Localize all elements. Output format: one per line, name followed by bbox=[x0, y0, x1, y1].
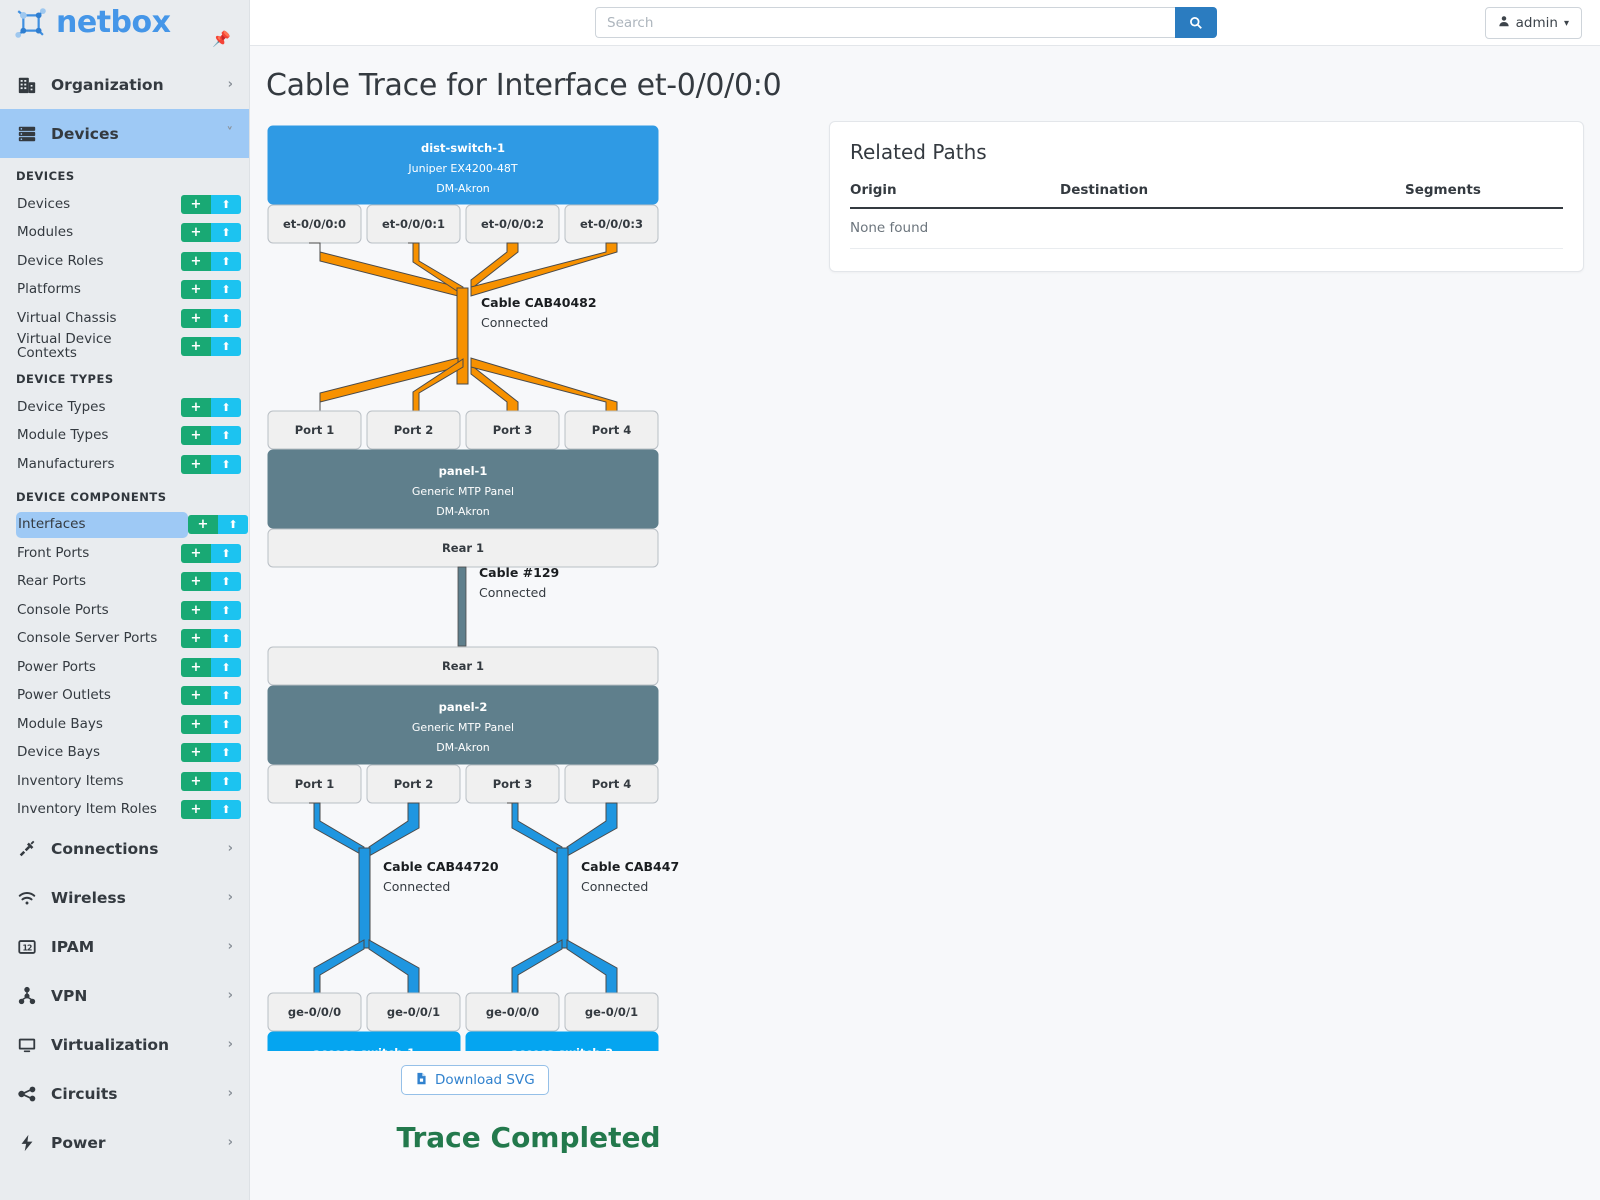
sidebar-group-label: Connections bbox=[51, 840, 215, 858]
sidebar-item-label: Inventory Item Roles bbox=[16, 798, 181, 822]
sidebar-item-device-roles[interactable]: Device Roles + ⬆ bbox=[0, 247, 249, 276]
sidebar-group-label: Power bbox=[51, 1134, 215, 1152]
add-manufacturers-button[interactable]: + bbox=[181, 455, 211, 474]
sidebar-item-actions: + ⬆ bbox=[181, 426, 241, 445]
trace-node-access-switch-1[interactable]: access-switch-1 Juniper EX4200-48T DM-Ak… bbox=[268, 1032, 460, 1051]
trace-node-panel-2[interactable]: panel-2 Generic MTP Panel DM-Akron bbox=[268, 686, 658, 764]
import-inventory-items-button[interactable]: ⬆ bbox=[211, 772, 241, 791]
rear-port-label: Rear 1 bbox=[442, 659, 484, 673]
sidebar-group-wireless[interactable]: Wireless › bbox=[0, 873, 249, 922]
sidebar-item-module-types[interactable]: Module Types + ⬆ bbox=[0, 422, 249, 451]
port-label: Port 3 bbox=[493, 423, 533, 437]
brand-name: netbox bbox=[56, 8, 170, 38]
content-area: .bx { stroke:#b9bfc5; stroke-width:1; } … bbox=[250, 103, 1600, 1154]
related-paths-table: Origin Destination Segments None found bbox=[850, 182, 1563, 249]
import-platforms-button[interactable]: ⬆ bbox=[211, 280, 241, 299]
user-icon bbox=[1498, 15, 1510, 31]
termination-label: et-0/0/0:2 bbox=[481, 217, 544, 231]
import-inventory-item-roles-button[interactable]: ⬆ bbox=[211, 800, 241, 819]
termination-label: ge-0/0/0 bbox=[486, 1005, 539, 1019]
sidebar-group-connections[interactable]: Connections › bbox=[0, 824, 249, 873]
sidebar-item-actions: + ⬆ bbox=[181, 772, 241, 791]
sidebar-item-label: Device Types bbox=[16, 396, 181, 420]
netbox-logo-icon bbox=[14, 6, 48, 40]
add-power-ports-button[interactable]: + bbox=[181, 658, 211, 677]
import-rear-ports-button[interactable]: ⬆ bbox=[211, 572, 241, 591]
sidebar-item-devices[interactable]: Devices + ⬆ bbox=[0, 190, 249, 219]
sidebar-group-label: VPN bbox=[51, 987, 215, 1005]
sidebar-item-virtual-device-contexts[interactable]: Virtual Device Contexts + ⬆ bbox=[0, 333, 249, 362]
sidebar-item-label: Manufacturers bbox=[16, 453, 181, 477]
user-menu-label: admin bbox=[1516, 15, 1558, 31]
panel-name: panel-2 bbox=[439, 700, 488, 714]
sidebar-item-actions: + ⬆ bbox=[181, 223, 241, 242]
sidebar-item-label: Devices bbox=[16, 193, 181, 217]
trace-rear-port-panel-2: Rear 1 bbox=[268, 647, 658, 685]
port-label: Port 1 bbox=[295, 423, 335, 437]
sidebar-item-power-outlets[interactable]: Power Outlets + ⬆ bbox=[0, 682, 249, 711]
search-button[interactable] bbox=[1175, 7, 1217, 38]
cable-status: Connected bbox=[581, 879, 648, 894]
sidebar: netbox 📌 Organization › bbox=[0, 0, 250, 1200]
chevron-right-icon: › bbox=[228, 939, 233, 954]
topbar: admin ▾ bbox=[250, 0, 1600, 46]
sidebar-item-actions: + ⬆ bbox=[181, 715, 241, 734]
panel-site: DM-Akron bbox=[436, 741, 490, 754]
pin-icon[interactable]: 📌 bbox=[212, 30, 231, 48]
sidebar-item-module-bays[interactable]: Module Bays + ⬆ bbox=[0, 710, 249, 739]
sidebar-item-actions: + ⬆ bbox=[181, 572, 241, 591]
sidebar-item-actions: + ⬆ bbox=[181, 800, 241, 819]
app-root: netbox 📌 Organization › bbox=[0, 0, 1600, 1200]
termination-label: ge-0/0/0 bbox=[288, 1005, 341, 1019]
page-title: Cable Trace for Interface et-0/0/0:0 bbox=[250, 46, 1600, 103]
add-vdc-button[interactable]: + bbox=[181, 337, 211, 356]
trace-node-dist-switch-1[interactable]: dist-switch-1 Juniper EX4200-48T DM-Akro… bbox=[268, 126, 658, 204]
trace-front-ports-panel-1: Port 1 Port 2 Port 3 Port 4 bbox=[268, 411, 658, 449]
trace-status-text: Trace Completed bbox=[266, 1121, 791, 1154]
file-download-icon bbox=[415, 1072, 428, 1089]
add-module-types-button[interactable]: + bbox=[181, 426, 211, 445]
rear-port-label: Rear 1 bbox=[442, 541, 484, 555]
ip-icon: 1 2 bbox=[16, 936, 38, 958]
server-icon bbox=[16, 123, 38, 145]
sidebar-item-actions: + ⬆ bbox=[181, 686, 241, 705]
add-inventory-item-roles-button[interactable]: + bbox=[181, 800, 211, 819]
add-console-server-ports-button[interactable]: + bbox=[181, 629, 211, 648]
sidebar-group-label: IPAM bbox=[51, 938, 215, 956]
import-modules-button[interactable]: ⬆ bbox=[211, 223, 241, 242]
trace-rear-port-panel-1: Rear 1 bbox=[268, 529, 658, 567]
panel-site: DM-Akron bbox=[436, 505, 490, 518]
import-virtual-chassis-button[interactable]: ⬆ bbox=[211, 309, 241, 328]
sidebar-section-heading-device-types: DEVICE TYPES bbox=[0, 361, 249, 393]
import-console-ports-button[interactable]: ⬆ bbox=[211, 601, 241, 620]
sidebar-item-label: Rear Ports bbox=[16, 570, 181, 594]
device-name: access-switch-1 bbox=[313, 1046, 415, 1051]
caret-down-icon: ▾ bbox=[1564, 18, 1569, 29]
related-paths-card: Related Paths Origin Destination Segment… bbox=[829, 121, 1584, 272]
import-front-ports-button[interactable]: ⬆ bbox=[211, 544, 241, 563]
chevron-right-icon: › bbox=[228, 988, 233, 1003]
cable-status: Connected bbox=[479, 585, 546, 600]
download-svg-label: Download SVG bbox=[435, 1072, 535, 1088]
cable-label: Cable CAB447 bbox=[581, 859, 679, 874]
cable-status: Connected bbox=[481, 315, 548, 330]
plug-icon bbox=[16, 838, 38, 860]
cable-label: Cable CAB44720 bbox=[383, 859, 499, 874]
sidebar-item-label: Console Ports bbox=[16, 599, 181, 623]
add-devices-button[interactable]: + bbox=[181, 195, 211, 214]
sidebar-item-label: Power Ports bbox=[16, 656, 181, 680]
sidebar-item-platforms[interactable]: Platforms + ⬆ bbox=[0, 276, 249, 305]
termination-label: et-0/0/0:3 bbox=[580, 217, 643, 231]
device-name: access-switch-2 bbox=[511, 1046, 613, 1051]
import-device-roles-button[interactable]: ⬆ bbox=[211, 252, 241, 271]
chevron-right-icon: › bbox=[228, 841, 233, 856]
sidebar-group-circuits[interactable]: Circuits › bbox=[0, 1069, 249, 1118]
add-front-ports-button[interactable]: + bbox=[181, 544, 211, 563]
cable-segment-orange-top[interactable]: Cable CAB40482 Connected bbox=[309, 243, 617, 411]
add-console-ports-button[interactable]: + bbox=[181, 601, 211, 620]
port-label: Port 2 bbox=[394, 423, 434, 437]
add-virtual-chassis-button[interactable]: + bbox=[181, 309, 211, 328]
sidebar-item-actions: + ⬆ bbox=[181, 195, 241, 214]
sidebar-item-actions: + ⬆ bbox=[181, 743, 241, 762]
sidebar-section-heading-devices: DEVICES bbox=[0, 158, 249, 190]
user-menu-button[interactable]: admin ▾ bbox=[1485, 7, 1582, 39]
sidebar-item-front-ports[interactable]: Front Ports + ⬆ bbox=[0, 539, 249, 568]
building-icon bbox=[16, 74, 38, 96]
sidebar-item-interfaces[interactable]: Interfaces + ⬆ bbox=[0, 511, 249, 540]
table-row: None found bbox=[850, 208, 1563, 249]
sidebar-item-label: Device Roles bbox=[16, 250, 181, 274]
sidebar-item-inventory-items[interactable]: Inventory Items + ⬆ bbox=[0, 767, 249, 796]
sidebar-item-console-server-ports[interactable]: Console Server Ports + ⬆ bbox=[0, 625, 249, 654]
table-header-row: Origin Destination Segments bbox=[850, 182, 1563, 208]
main-content: admin ▾ Cable Trace for Interface et-0/0… bbox=[250, 0, 1600, 1200]
sidebar-group-virtualization[interactable]: Virtualization › bbox=[0, 1020, 249, 1069]
sidebar-item-label: Modules bbox=[16, 221, 181, 245]
sidebar-item-label: Module Types bbox=[16, 424, 181, 448]
sidebar-group-label: Wireless bbox=[51, 889, 215, 907]
add-module-bays-button[interactable]: + bbox=[181, 715, 211, 734]
import-vdc-button[interactable]: ⬆ bbox=[211, 337, 241, 356]
import-device-bays-button[interactable]: ⬆ bbox=[211, 743, 241, 762]
cable-label: Cable #129 bbox=[479, 565, 559, 580]
cable-segment-gray[interactable]: Cable #129 Connected bbox=[458, 565, 559, 646]
port-label: Port 1 bbox=[295, 777, 335, 791]
cable-status: Connected bbox=[383, 879, 450, 894]
bolt-icon bbox=[16, 1132, 38, 1154]
trace-node-panel-1[interactable]: panel-1 Generic MTP Panel DM-Akron bbox=[268, 450, 658, 528]
search-input[interactable] bbox=[595, 7, 1175, 38]
sidebar-item-label: Virtual Chassis bbox=[16, 307, 181, 331]
sidebar-item-rear-ports[interactable]: Rear Ports + ⬆ bbox=[0, 568, 249, 597]
sidebar-item-actions: + ⬆ bbox=[181, 658, 241, 677]
circuit-icon bbox=[16, 1083, 38, 1105]
termination-label: et-0/0/0:0 bbox=[283, 217, 346, 231]
sidebar-group-label: Virtualization bbox=[51, 1036, 215, 1054]
sidebar-section-heading-device-components: DEVICE COMPONENTS bbox=[0, 479, 249, 511]
sidebar-group-organization[interactable]: Organization › bbox=[0, 60, 249, 109]
port-label: Port 4 bbox=[592, 423, 632, 437]
related-paths-panel: Related Paths Origin Destination Segment… bbox=[811, 121, 1584, 1154]
port-label: Port 4 bbox=[592, 777, 632, 791]
sidebar-group-label: Devices bbox=[51, 125, 214, 143]
panel-type: Generic MTP Panel bbox=[412, 485, 514, 498]
sidebar-item-manufacturers[interactable]: Manufacturers + ⬆ bbox=[0, 450, 249, 479]
empty-state-text: None found bbox=[850, 208, 1563, 249]
import-console-server-ports-button[interactable]: ⬆ bbox=[211, 629, 241, 648]
column-header-origin[interactable]: Origin bbox=[850, 182, 1060, 208]
sidebar-item-actions: + ⬆ bbox=[181, 337, 241, 356]
add-platforms-button[interactable]: + bbox=[181, 280, 211, 299]
trace-terminations-access-switches: ge-0/0/0 ge-0/0/1 ge-0/0/0 ge-0/0/1 bbox=[268, 993, 658, 1031]
cable-segment-blue-right[interactable]: Cable CAB447 Connected bbox=[507, 803, 679, 993]
port-label: Port 3 bbox=[493, 777, 533, 791]
column-header-destination[interactable]: Destination bbox=[1060, 182, 1405, 208]
termination-label: et-0/0/0:1 bbox=[382, 217, 445, 231]
sidebar-group-ipam[interactable]: 1 2 IPAM › bbox=[0, 922, 249, 971]
add-modules-button[interactable]: + bbox=[181, 223, 211, 242]
import-module-types-button[interactable]: ⬆ bbox=[211, 426, 241, 445]
cable-label: Cable CAB40482 bbox=[481, 295, 597, 310]
trace-svg[interactable]: .bx { stroke:#b9bfc5; stroke-width:1; } … bbox=[266, 121, 791, 1051]
chevron-right-icon: › bbox=[228, 77, 233, 92]
monitor-icon bbox=[16, 1034, 38, 1056]
sidebar-item-device-bays[interactable]: Device Bays + ⬆ bbox=[0, 739, 249, 768]
import-manufacturers-button[interactable]: ⬆ bbox=[211, 455, 241, 474]
sidebar-item-console-ports[interactable]: Console Ports + ⬆ bbox=[0, 596, 249, 625]
nav-spacer bbox=[0, 46, 249, 60]
add-inventory-items-button[interactable]: + bbox=[181, 772, 211, 791]
sidebar-item-actions: + ⬆ bbox=[188, 515, 248, 534]
vpn-icon bbox=[16, 985, 38, 1007]
sidebar-item-label: Front Ports bbox=[16, 542, 181, 566]
import-power-outlets-button[interactable]: ⬆ bbox=[211, 686, 241, 705]
sidebar-item-actions: + ⬆ bbox=[181, 455, 241, 474]
sidebar-item-label: Module Bays bbox=[16, 713, 181, 737]
chevron-right-icon: › bbox=[228, 890, 233, 905]
sidebar-group-devices[interactable]: Devices ˅ bbox=[0, 109, 249, 158]
sidebar-item-actions: + ⬆ bbox=[181, 252, 241, 271]
cable-trace-diagram: .bx { stroke:#b9bfc5; stroke-width:1; } … bbox=[266, 121, 811, 1154]
sidebar-item-label: Interfaces bbox=[16, 512, 188, 538]
sidebar-item-label: Device Bays bbox=[16, 741, 181, 765]
add-interfaces-button[interactable]: + bbox=[188, 515, 218, 534]
brand[interactable]: netbox 📌 bbox=[0, 0, 249, 46]
sidebar-item-inventory-item-roles[interactable]: Inventory Item Roles + ⬆ bbox=[0, 796, 249, 825]
sidebar-group-label: Circuits bbox=[51, 1085, 215, 1103]
sidebar-item-label: Power Outlets bbox=[16, 684, 181, 708]
import-device-types-button[interactable]: ⬆ bbox=[211, 398, 241, 417]
sidebar-item-actions: + ⬆ bbox=[181, 309, 241, 328]
svg-text:2: 2 bbox=[27, 943, 32, 952]
related-paths-title: Related Paths bbox=[850, 140, 1563, 164]
wifi-icon bbox=[16, 887, 38, 909]
search-bar bbox=[595, 7, 1217, 38]
sidebar-item-label: Platforms bbox=[16, 278, 181, 302]
sidebar-item-actions: + ⬆ bbox=[181, 629, 241, 648]
chevron-right-icon: › bbox=[228, 1086, 233, 1101]
add-device-types-button[interactable]: + bbox=[181, 398, 211, 417]
device-type: Juniper EX4200-48T bbox=[407, 162, 517, 175]
import-power-ports-button[interactable]: ⬆ bbox=[211, 658, 241, 677]
sidebar-item-label: Virtual Device Contexts bbox=[16, 328, 181, 365]
termination-label: ge-0/0/1 bbox=[387, 1005, 440, 1019]
sidebar-group-label: Organization bbox=[51, 76, 215, 94]
port-label: Port 2 bbox=[394, 777, 434, 791]
add-rear-ports-button[interactable]: + bbox=[181, 572, 211, 591]
panel-type: Generic MTP Panel bbox=[412, 721, 514, 734]
download-svg-button[interactable]: Download SVG bbox=[401, 1065, 549, 1095]
column-header-segments[interactable]: Segments bbox=[1405, 182, 1563, 208]
sidebar-item-actions: + ⬆ bbox=[181, 601, 241, 620]
sidebar-item-actions: + ⬆ bbox=[181, 544, 241, 563]
sidebar-item-power-ports[interactable]: Power Ports + ⬆ bbox=[0, 653, 249, 682]
chevron-right-icon: › bbox=[228, 1135, 233, 1150]
device-site: DM-Akron bbox=[436, 182, 490, 195]
sidebar-group-power[interactable]: Power › bbox=[0, 1118, 249, 1167]
chevron-right-icon: › bbox=[228, 1037, 233, 1052]
chevron-down-icon: ˅ bbox=[227, 126, 234, 141]
add-device-roles-button[interactable]: + bbox=[181, 252, 211, 271]
trace-front-ports-panel-2: Port 1 Port 2 Port 3 Port 4 bbox=[268, 765, 658, 803]
sidebar-group-vpn[interactable]: VPN › bbox=[0, 971, 249, 1020]
sidebar-item-actions: + ⬆ bbox=[181, 398, 241, 417]
import-module-bays-button[interactable]: ⬆ bbox=[211, 715, 241, 734]
sidebar-item-device-types[interactable]: Device Types + ⬆ bbox=[0, 393, 249, 422]
trace-terminations-dist-switch-1: et-0/0/0:0 et-0/0/0:1 et-0/0/0:2 et-0/0/… bbox=[268, 205, 658, 243]
device-name: dist-switch-1 bbox=[421, 141, 505, 155]
cable-segment-blue-left[interactable]: Cable CAB44720 Connected bbox=[309, 803, 499, 993]
sidebar-item-modules[interactable]: Modules + ⬆ bbox=[0, 219, 249, 248]
trace-node-access-switch-2[interactable]: access-switch-2 Juniper EX4200-48T DM-Ak… bbox=[466, 1032, 658, 1051]
panel-name: panel-1 bbox=[439, 464, 488, 478]
sidebar-item-label: Console Server Ports bbox=[16, 627, 181, 651]
add-device-bays-button[interactable]: + bbox=[181, 743, 211, 762]
termination-label: ge-0/0/1 bbox=[585, 1005, 638, 1019]
sidebar-item-actions: + ⬆ bbox=[181, 280, 241, 299]
add-power-outlets-button[interactable]: + bbox=[181, 686, 211, 705]
import-devices-button[interactable]: ⬆ bbox=[211, 195, 241, 214]
sidebar-item-label: Inventory Items bbox=[16, 770, 181, 794]
import-interfaces-button[interactable]: ⬆ bbox=[218, 515, 248, 534]
